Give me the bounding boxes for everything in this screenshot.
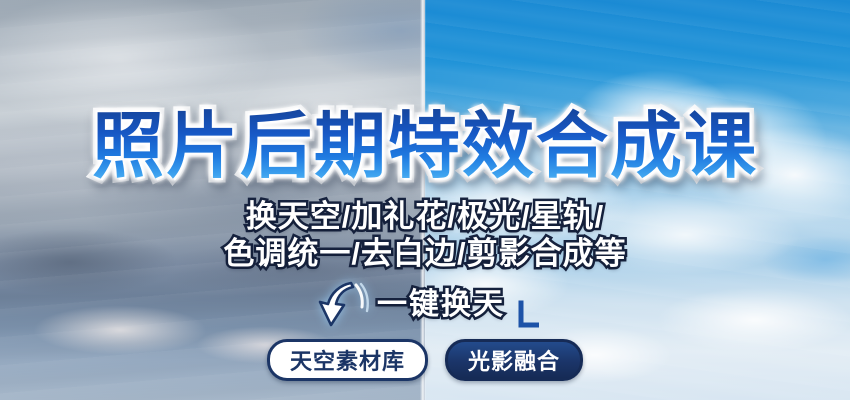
badge-sky-asset-library[interactable]: 天空素材库	[267, 339, 428, 381]
key-phrase-row: 一键换天	[0, 281, 850, 329]
subtitle-line-2: 色调统一/去白边/剪影合成等	[0, 237, 850, 271]
corner-bracket-icon	[513, 299, 539, 333]
subtitle-line-1: 换天空/加礼花/极光/星轨/	[0, 200, 850, 234]
page-title: 照片后期特效合成课	[0, 108, 850, 186]
badge-label: 天空素材库	[290, 344, 405, 376]
key-phrase-text: 一键换天	[377, 288, 505, 322]
badge-label: 光影融合	[468, 344, 560, 376]
curved-down-arrow-icon	[311, 280, 369, 330]
sky-replacement-course-banner: 照片后期特效合成课 照片后期特效合成课 换天空/加礼花/极光/星轨/ 色调统一/…	[0, 0, 850, 400]
banner-content: 照片后期特效合成课 照片后期特效合成课 换天空/加礼花/极光/星轨/ 色调统一/…	[0, 0, 850, 400]
feature-badge-row: 天空素材库 光影融合	[0, 341, 850, 379]
badge-light-shadow-blend[interactable]: 光影融合	[445, 339, 583, 381]
